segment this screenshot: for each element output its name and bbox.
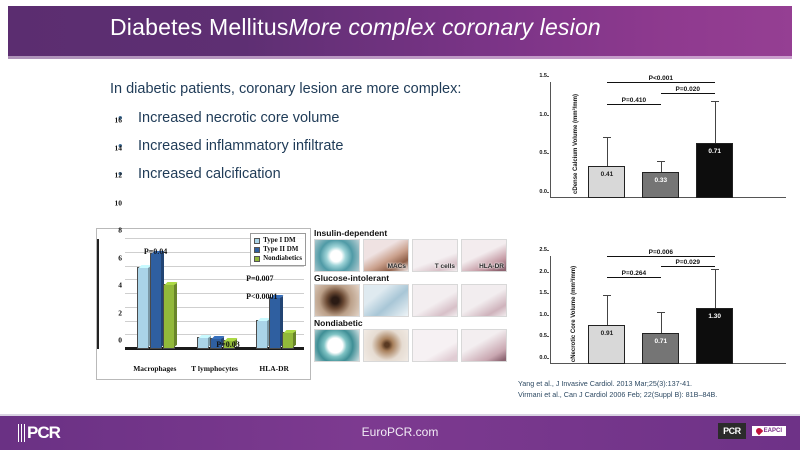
- chart-legend-label: Nondiabetics: [263, 254, 302, 263]
- chart-bar-value: 0.41: [589, 171, 624, 178]
- chart-pvalue-annotation: P<0.0001: [246, 292, 277, 301]
- chart-bar: [137, 267, 149, 349]
- chart-bar-value: 0.71: [643, 338, 678, 345]
- chart-y-tick: 1.0: [539, 312, 547, 318]
- histology-column-caption: HLA-DR: [479, 263, 504, 270]
- histology-row-label: Glucose-intolerant: [314, 273, 512, 284]
- bullet-text: Increased calcification: [138, 166, 281, 182]
- chart-bar: [163, 284, 175, 349]
- citation-line: Virmani et al., Can J Cardiol 2006 Feb; …: [518, 389, 798, 400]
- histology-row-label: Insulin-dependent: [314, 228, 512, 239]
- chart-bar-value: 0.71: [697, 148, 732, 155]
- chart-error-bar: [661, 162, 662, 172]
- histology-column-caption: MACs: [388, 263, 406, 270]
- chart-bar: 1.30: [696, 308, 733, 364]
- histology-image: [363, 329, 409, 362]
- intro-paragraph: In diabetic patients, coronary lesion ar…: [110, 76, 510, 102]
- chart-bar-group: [137, 253, 175, 349]
- chart-bar: [197, 337, 209, 349]
- bullet-list: •Increased necrotic core volume•Increase…: [110, 104, 510, 188]
- chart-y-tick: 0.5: [539, 333, 547, 339]
- chart-y-tick: 2: [118, 308, 122, 317]
- chart-x-label: Macrophages: [133, 364, 176, 373]
- histology-image: [363, 284, 409, 317]
- chart-y-tick: 12: [115, 171, 123, 180]
- chart-legend-item: Type I DM: [254, 236, 302, 245]
- chart-y-tick: 6: [118, 253, 122, 262]
- chart-y-tick: 2.5: [539, 247, 547, 253]
- chart-y-tick: 1.0: [539, 112, 547, 118]
- chart-x-label: HLA-DR: [259, 364, 289, 373]
- bullet-text: Increased inflammatory infiltrate: [138, 138, 344, 154]
- chart-pvalue-annotation: P<0.001: [649, 75, 673, 82]
- chart-legend-swatch: [254, 238, 260, 244]
- chart-y-tick: 16: [115, 116, 123, 125]
- chart-error-cap: [711, 269, 719, 270]
- chart-dense-calcium-y-axis: [550, 82, 551, 198]
- slide: Diabetes MellitusMore complex coronary l…: [0, 0, 800, 450]
- chart-bar: 0.71: [696, 143, 733, 198]
- chart-significance-bracket: [661, 266, 715, 267]
- citations: Yang et al., J Invasive Cardiol. 2013 Ma…: [518, 378, 798, 400]
- footer-pcr-badge: PCR: [718, 423, 746, 439]
- page-title: Diabetes MellitusMore complex coronary l…: [110, 14, 601, 41]
- title-subtitle: More complex coronary lesion: [289, 14, 601, 40]
- chart-pvalue-annotation: P=0.04: [144, 247, 167, 256]
- histology-panel: Insulin-dependentMACsT cellsHLA-DRGlucos…: [314, 228, 512, 380]
- title-main: Diabetes Mellitus: [110, 14, 289, 40]
- chart-pvalue-annotation: P=0.006: [649, 249, 673, 256]
- chart-y-tick: 0: [118, 336, 122, 345]
- histology-row: [314, 284, 512, 317]
- chart-error-bar: [715, 270, 716, 308]
- histology-image: [412, 329, 458, 362]
- chart-y-tick: 1.5: [539, 290, 547, 296]
- chart-significance-bracket: [607, 277, 661, 278]
- bullet-item: •Increased inflammatory infiltrate: [110, 132, 510, 160]
- footer: PCR EuroPCR.com PCR EAPCI: [0, 416, 800, 450]
- chart-legend-label: Type II DM: [263, 245, 298, 254]
- chart-bar-side: [174, 283, 177, 347]
- chart-bar-side: [293, 331, 296, 348]
- chart-legend-swatch: [254, 256, 260, 262]
- chart-legend-swatch: [254, 247, 260, 253]
- footer-eapci-text: EAPCI: [764, 428, 782, 434]
- histology-image: [314, 239, 360, 272]
- chart-bar: 0.33: [642, 172, 679, 198]
- chart-error-cap: [711, 101, 719, 102]
- chart-inflammatory-y-axis: [97, 239, 99, 349]
- footer-logos: PCR EAPCI: [718, 423, 786, 439]
- footer-eapci-badge: EAPCI: [752, 426, 786, 436]
- chart-y-tick: 4: [118, 281, 122, 290]
- histology-image: MACs: [363, 239, 409, 272]
- footer-website: EuroPCR.com: [0, 425, 800, 439]
- bullet-item: •Increased calcification: [110, 160, 510, 188]
- chart-bar-value: 1.30: [697, 313, 732, 320]
- histology-image: [412, 284, 458, 317]
- chart-legend-item: Type II DM: [254, 245, 302, 254]
- chart-bar: [150, 253, 162, 349]
- chart-significance-bracket: [607, 256, 715, 257]
- chart-significance-bracket: [607, 104, 661, 105]
- citation-line: Yang et al., J Invasive Cardiol. 2013 Ma…: [518, 378, 798, 389]
- chart-error-cap: [603, 295, 611, 296]
- chart-error-cap: [657, 312, 665, 313]
- chart-bar: [282, 332, 294, 349]
- chart-inflammatory-infiltrate: 0246810121416 Type I DMType II DMNondiab…: [96, 228, 311, 380]
- chart-y-tick: 0.0: [539, 189, 547, 195]
- chart-y-tick: 0.0: [539, 355, 547, 361]
- chart-necrotic-core-y-axis: [550, 256, 551, 364]
- chart-error-bar: [715, 102, 716, 143]
- chart-bar: 0.71: [642, 333, 679, 364]
- chart-error-cap: [603, 137, 611, 138]
- chart-inflammatory-legend: Type I DMType II DMNondiabetics: [250, 233, 306, 266]
- histology-column-caption: T cells: [435, 263, 455, 270]
- chart-necrotic-core-volume: cNecrotic Core Volume (mm³/mm) 0.00.51.0…: [524, 248, 792, 380]
- chart-dense-calcium-plot: 0.00.51.01.50.410.330.71P<0.001P=0.020P=…: [550, 82, 786, 198]
- chart-pvalue-annotation: P=0.007: [246, 274, 273, 283]
- histology-image: [461, 284, 507, 317]
- chart-bar-value: 0.33: [643, 177, 678, 184]
- chart-necrotic-core-plot: 0.00.51.01.52.02.50.910.711.30P=0.006P=0…: [550, 256, 786, 364]
- histology-image: [461, 329, 507, 362]
- histology-row-label: Nondiabetic: [314, 318, 512, 329]
- chart-error-bar: [607, 138, 608, 166]
- histology-image: [314, 329, 360, 362]
- chart-bar: 0.91: [588, 325, 625, 364]
- chart-bar: [256, 320, 268, 349]
- chart-pvalue-annotation: P=0.264: [622, 270, 646, 277]
- chart-y-tick: 0.5: [539, 150, 547, 156]
- chart-bar: 0.41: [588, 166, 625, 198]
- chart-bar-group: [256, 297, 294, 349]
- histology-row: MACsT cellsHLA-DR: [314, 239, 512, 272]
- chart-significance-bracket: [661, 93, 715, 94]
- histology-row: [314, 329, 512, 362]
- chart-x-label: T lymphocytes: [191, 364, 238, 373]
- bullet-item: •Increased necrotic core volume: [110, 104, 510, 132]
- chart-error-bar: [661, 313, 662, 333]
- chart-legend-label: Type I DM: [263, 236, 296, 245]
- histology-image: HLA-DR: [461, 239, 507, 272]
- histology-image: T cells: [412, 239, 458, 272]
- header-underline: [8, 56, 792, 59]
- chart-bar-value: 0.91: [589, 330, 624, 337]
- chart-pvalue-annotation: P=0.029: [676, 259, 700, 266]
- chart-error-bar: [607, 296, 608, 325]
- chart-significance-bracket: [607, 82, 715, 83]
- chart-pvalue-annotation: P=0.020: [676, 86, 700, 93]
- chart-bar: [269, 297, 281, 349]
- chart-y-tick: 14: [115, 143, 123, 152]
- heart-icon: [754, 427, 762, 435]
- text-block: In diabetic patients, coronary lesion ar…: [110, 76, 510, 188]
- chart-dense-calcium-volume: cDense Calcium Volume (mm³/mm) 0.00.51.0…: [524, 74, 792, 214]
- chart-error-cap: [657, 161, 665, 162]
- chart-pvalue-annotation: P=0.03: [216, 340, 239, 349]
- chart-y-tick: 10: [115, 198, 123, 207]
- chart-y-tick: 2.0: [539, 269, 547, 275]
- histology-image: [314, 284, 360, 317]
- chart-y-tick: 8: [118, 226, 122, 235]
- chart-legend-item: Nondiabetics: [254, 254, 302, 263]
- bullet-text: Increased necrotic core volume: [138, 110, 340, 126]
- chart-y-tick: 1.5: [539, 73, 547, 79]
- chart-pvalue-annotation: P=0.410: [622, 97, 646, 104]
